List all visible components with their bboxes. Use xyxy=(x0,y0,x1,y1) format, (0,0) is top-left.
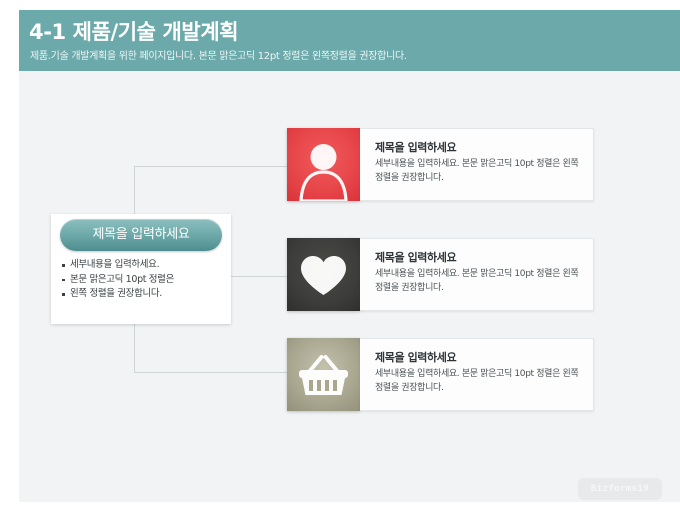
list-item: 세부내용을 입력하세요. xyxy=(61,258,225,273)
card-body: 제목을 입력하세요 세부내용을 입력하세요. 본문 맑은고딕 10pt 정렬은 … xyxy=(360,128,594,201)
connector-branch-top xyxy=(134,166,288,167)
card-text: 세부내용을 입력하세요. 본문 맑은고딕 10pt 정렬은 왼쪽 정렬을 권장합… xyxy=(375,367,587,395)
shopping-basket-icon-tile[interactable] xyxy=(287,338,360,411)
feature-card[interactable]: 제목을 입력하세요 세부내용을 입력하세요. 본문 맑은고딕 10pt 정렬은 … xyxy=(287,128,594,201)
card-text: 세부내용을 입력하세요. 본문 맑은고딕 10pt 정렬은 왼쪽 정렬을 권장합… xyxy=(375,267,587,295)
heart-icon-tile[interactable] xyxy=(287,238,360,311)
watermark-badge: Bizforms19 xyxy=(578,478,662,500)
slide-canvas: 4-1 제품/기술 개발계획 제품.기술 개발계획을 위한 페이지입니다. 본문… xyxy=(0,0,680,510)
heart-icon xyxy=(287,238,360,311)
shopping-basket-icon xyxy=(287,338,360,411)
page-subtitle: 제품.기술 개발계획을 위한 페이지입니다. 본문 맑은고딕 12pt 정렬은 … xyxy=(30,47,407,62)
left-panel-bullet-list: 세부내용을 입력하세요. 본문 맑은고딕 10pt 정렬은 왼쪽 정렬을 권장합… xyxy=(61,258,225,302)
person-icon xyxy=(287,128,360,201)
connector-branch-middle xyxy=(231,276,288,277)
left-summary-panel[interactable]: 제목을 입력하세요 세부내용을 입력하세요. 본문 맑은고딕 10pt 정렬은 … xyxy=(51,214,231,324)
header-band: 4-1 제품/기술 개발계획 제품.기술 개발계획을 위한 페이지입니다. 본문… xyxy=(19,10,680,71)
card-title: 제목을 입력하세요 xyxy=(375,249,456,265)
card-title: 제목을 입력하세요 xyxy=(375,139,456,155)
card-body: 제목을 입력하세요 세부내용을 입력하세요. 본문 맑은고딕 10pt 정렬은 … xyxy=(360,338,594,411)
list-item: 왼쪽 정렬을 권장합니다. xyxy=(61,287,225,302)
card-title: 제목을 입력하세요 xyxy=(375,349,456,365)
feature-card[interactable]: 제목을 입력하세요 세부내용을 입력하세요. 본문 맑은고딕 10pt 정렬은 … xyxy=(287,338,594,411)
card-body: 제목을 입력하세요 세부내용을 입력하세요. 본문 맑은고딕 10pt 정렬은 … xyxy=(360,238,594,311)
card-text: 세부내용을 입력하세요. 본문 맑은고딕 10pt 정렬은 왼쪽 정렬을 권장합… xyxy=(375,157,587,185)
person-icon-tile[interactable] xyxy=(287,128,360,201)
list-item: 본문 맑은고딕 10pt 정렬은 xyxy=(61,273,225,288)
page-title: 4-1 제품/기술 개발계획 xyxy=(29,16,238,46)
connector-branch-bottom xyxy=(134,372,288,373)
left-panel-title-button[interactable]: 제목을 입력하세요 xyxy=(60,219,222,251)
feature-card[interactable]: 제목을 입력하세요 세부내용을 입력하세요. 본문 맑은고딕 10pt 정렬은 … xyxy=(287,238,594,311)
